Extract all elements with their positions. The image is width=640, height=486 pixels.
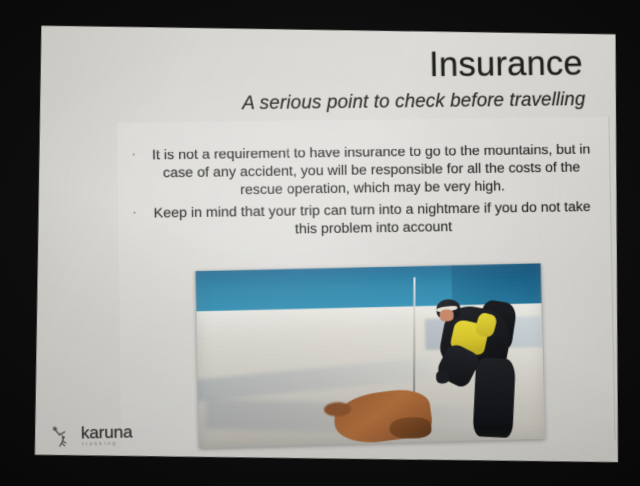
- logo-text: karuna trekking: [81, 424, 133, 449]
- bullet-marker-icon: ·: [132, 148, 136, 162]
- mountain-climber-icon: [50, 423, 77, 450]
- slide-photo-scene: Insurance A serious point to check befor…: [0, 0, 640, 486]
- karuna-logo: karuna trekking: [50, 422, 132, 450]
- slide-title: Insurance: [429, 46, 583, 82]
- slide-subtitle: A serious point to check before travelli…: [242, 89, 586, 115]
- slide-surface-wrapper: Insurance A serious point to check befor…: [17, 8, 628, 481]
- bullet-item: · Keep in mind that your trip can turn i…: [126, 197, 603, 240]
- logo-tagline: trekking: [82, 442, 133, 448]
- logo-wordmark: karuna: [81, 424, 133, 442]
- rescuer-figure: [411, 295, 531, 439]
- bullet-text: Keep in mind that your trip can turn int…: [149, 198, 596, 241]
- rescuer-legs: [472, 357, 515, 437]
- rescue-photograph: [195, 263, 544, 448]
- presentation-slide: Insurance A serious point to check befor…: [27, 14, 624, 475]
- bullet-list: · It is not a requirement to have insura…: [126, 140, 604, 243]
- bullet-item: · It is not a requirement to have insura…: [126, 140, 603, 201]
- rescuer-face: [439, 310, 453, 322]
- bullet-marker-icon: ·: [133, 205, 137, 219]
- bullet-text: It is not a requirement to have insuranc…: [148, 141, 595, 201]
- rescuer-glove: [436, 370, 449, 383]
